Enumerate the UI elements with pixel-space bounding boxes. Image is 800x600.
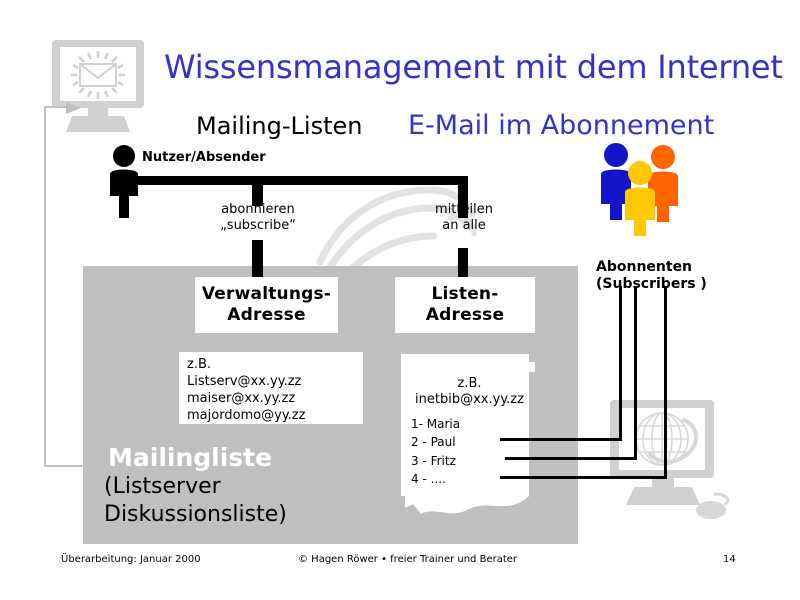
broadcast-line-1: mitteilen bbox=[418, 202, 510, 218]
people-group-icon bbox=[596, 142, 688, 258]
subscriber-entry: 2 - Paul bbox=[411, 433, 542, 452]
sender-label: Nutzer/Absender bbox=[142, 150, 266, 165]
connector-stem-admin bbox=[252, 240, 263, 278]
connector-label-subscribe: abonnieren „subscribe“ bbox=[208, 202, 308, 234]
example-address: Listserv@xx.yy.zz bbox=[187, 374, 363, 391]
caption-sub-line-1: (Listserver bbox=[104, 473, 287, 501]
mailing-list-caption-title: Mailingliste bbox=[108, 443, 272, 472]
delivery-line-3-vertical bbox=[664, 286, 667, 478]
list-address-box: Listen- Adresse bbox=[395, 277, 535, 333]
broadcast-line-2: an alle bbox=[418, 218, 510, 234]
subscriber-entry: 1- Maria bbox=[411, 415, 542, 434]
admin-address-line-2: Adresse bbox=[227, 305, 305, 326]
example-address: majordomo@yy.zz bbox=[187, 408, 363, 425]
mailing-list-caption-subtitle: (Listserver Diskussionsliste) bbox=[104, 473, 287, 529]
subscribers-label: Abonnenten (Subscribers ) bbox=[596, 259, 707, 293]
admin-address-examples-box: z.B. Listserv@xx.yy.zz maiser@xx.yy.zz m… bbox=[179, 352, 363, 424]
examples-heading: z.B. bbox=[187, 357, 363, 374]
admin-address-line-1: Verwaltungs- bbox=[202, 284, 331, 305]
subtitle-email-subscription: E-Mail im Abonnement bbox=[408, 110, 714, 141]
paper-heading: z.B. bbox=[397, 376, 542, 392]
subscriber-entry: 3 - Fritz bbox=[411, 452, 542, 471]
subscriber-entry: 4 - .... bbox=[411, 470, 542, 489]
delivery-line-1-horizontal bbox=[500, 438, 622, 441]
feedback-arrowhead-icon bbox=[66, 100, 84, 119]
slide-canvas: Nutzer/Absender abonnieren „subscribe“ m… bbox=[0, 0, 800, 600]
admin-address-box: Verwaltungs- Adresse bbox=[195, 277, 338, 333]
list-address-line-2: Adresse bbox=[426, 305, 504, 326]
delivery-line-2-vertical bbox=[634, 286, 637, 459]
footer-page-number: 14 bbox=[723, 554, 736, 565]
footer-revision: Überarbeitung: Januar 2000 bbox=[61, 554, 201, 565]
example-address: maiser@xx.yy.zz bbox=[187, 391, 363, 408]
connector-horizontal-bar bbox=[135, 176, 467, 185]
feedback-line-left bbox=[44, 106, 46, 467]
list-address-line-1: Listen- bbox=[432, 284, 499, 305]
delivery-line-1-vertical bbox=[619, 286, 622, 440]
page-title: Wissensmanagement mit dem Internet bbox=[164, 48, 783, 86]
connector-label-broadcast: mitteilen an alle bbox=[418, 202, 510, 234]
monitor-envelope-icon bbox=[50, 38, 150, 142]
subscribers-label-line-1: Abonnenten bbox=[596, 259, 707, 276]
subscribers-label-line-2: (Subscribers ) bbox=[596, 276, 707, 293]
connector-stem-list bbox=[458, 248, 468, 278]
paper-list-address: inetbib@xx.yy.zz bbox=[397, 392, 542, 408]
subtitle-mailing-lists: Mailing-Listen bbox=[196, 112, 362, 140]
subscribe-line-2: „subscribe“ bbox=[208, 218, 308, 234]
caption-sub-line-2: Diskussionsliste) bbox=[104, 501, 287, 529]
delivery-line-2-horizontal bbox=[505, 457, 637, 460]
subscribe-line-1: abonnieren bbox=[208, 202, 308, 218]
subscriber-list-content: z.B. inetbib@xx.yy.zz 1- Maria 2 - Paul … bbox=[397, 348, 542, 523]
footer-copyright: © Hagen Röwer • freier Trainer und Berat… bbox=[298, 554, 517, 565]
delivery-line-3-horizontal bbox=[500, 476, 667, 479]
monitor-globe-icon bbox=[608, 398, 738, 532]
